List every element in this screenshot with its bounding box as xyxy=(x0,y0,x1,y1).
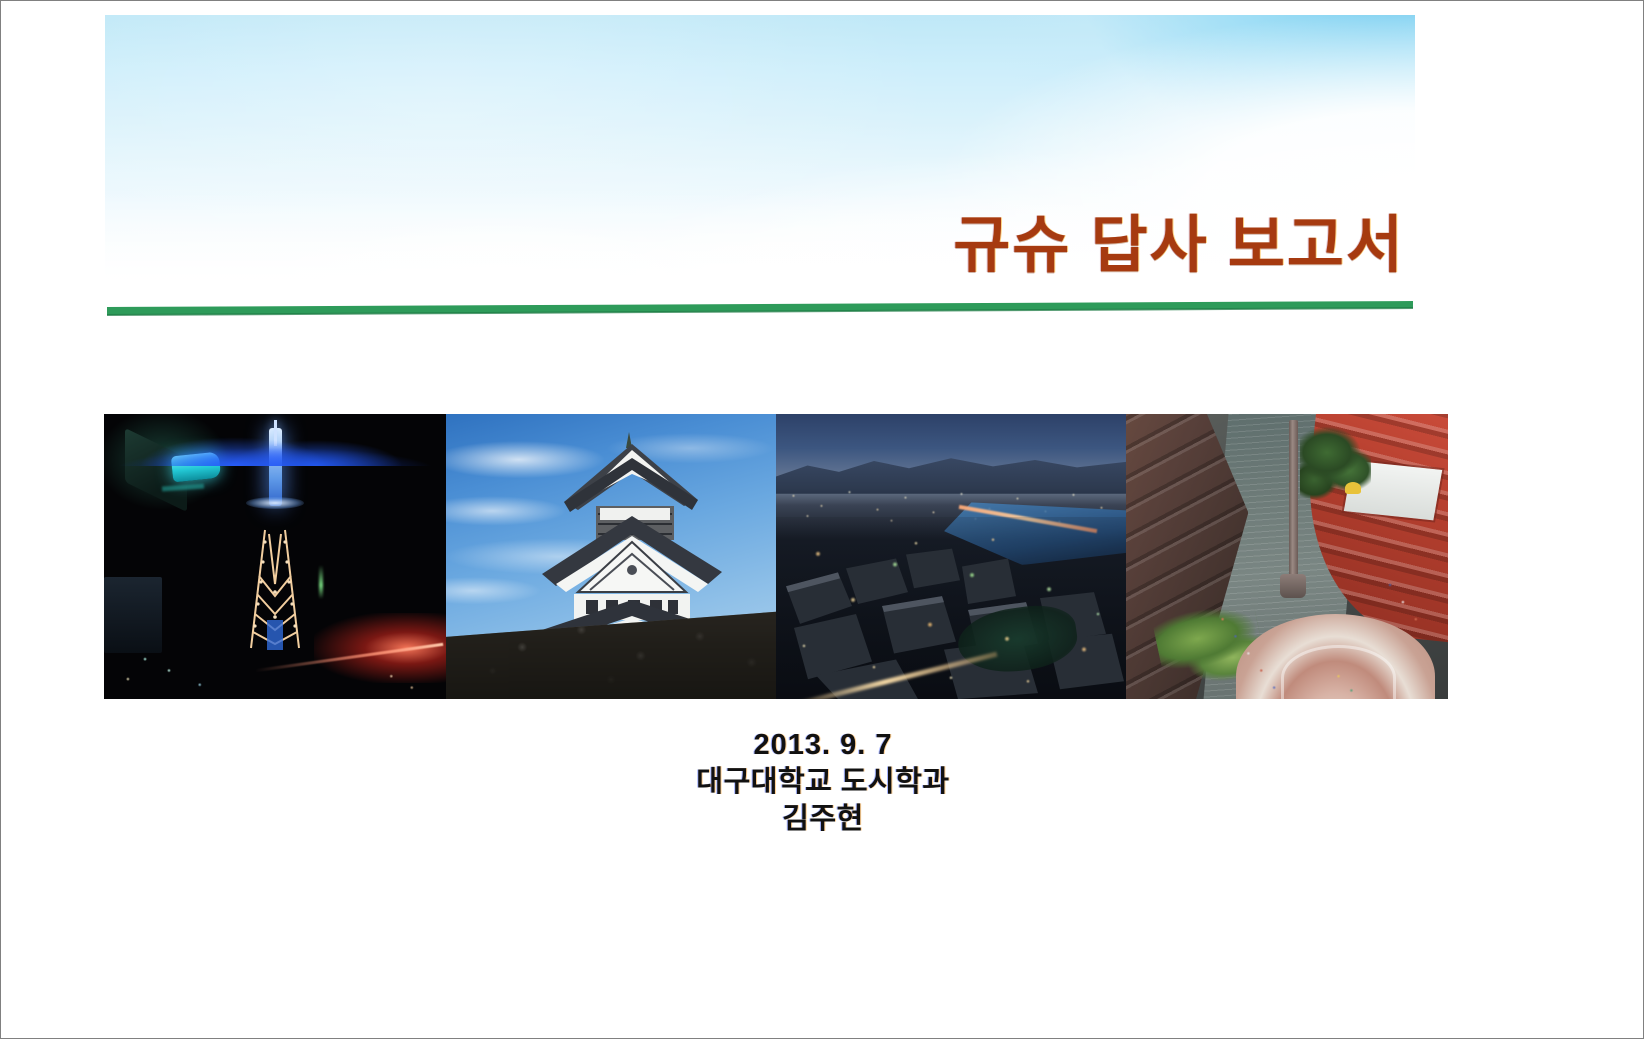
photo-kokura-castle xyxy=(446,414,776,699)
photo-canal-city-hakata xyxy=(1126,414,1448,699)
affiliation-text: 대구대학교 도시학과 xyxy=(1,764,1644,801)
city-street-lights xyxy=(776,522,1126,699)
pedestrians xyxy=(1126,414,1448,699)
presentation-slide: 규슈 답사 보고서 xyxy=(0,0,1644,1039)
presentation-date: 2013. 9. 7 xyxy=(1,727,1644,764)
divider-shape xyxy=(107,301,1413,320)
scattered-street-lights xyxy=(104,414,446,699)
green-divider-line xyxy=(107,301,1413,320)
photo-city-night-aerial xyxy=(776,414,1126,699)
author-name: 김주현 xyxy=(1,801,1644,838)
photo-fukuoka-tower-night xyxy=(104,414,446,699)
caption-block: 2013. 9. 7 대구대학교 도시학과 김주현 xyxy=(1,727,1644,837)
slide-title: 규슈 답사 보고서 xyxy=(953,215,1405,277)
photo-strip xyxy=(104,414,1448,699)
